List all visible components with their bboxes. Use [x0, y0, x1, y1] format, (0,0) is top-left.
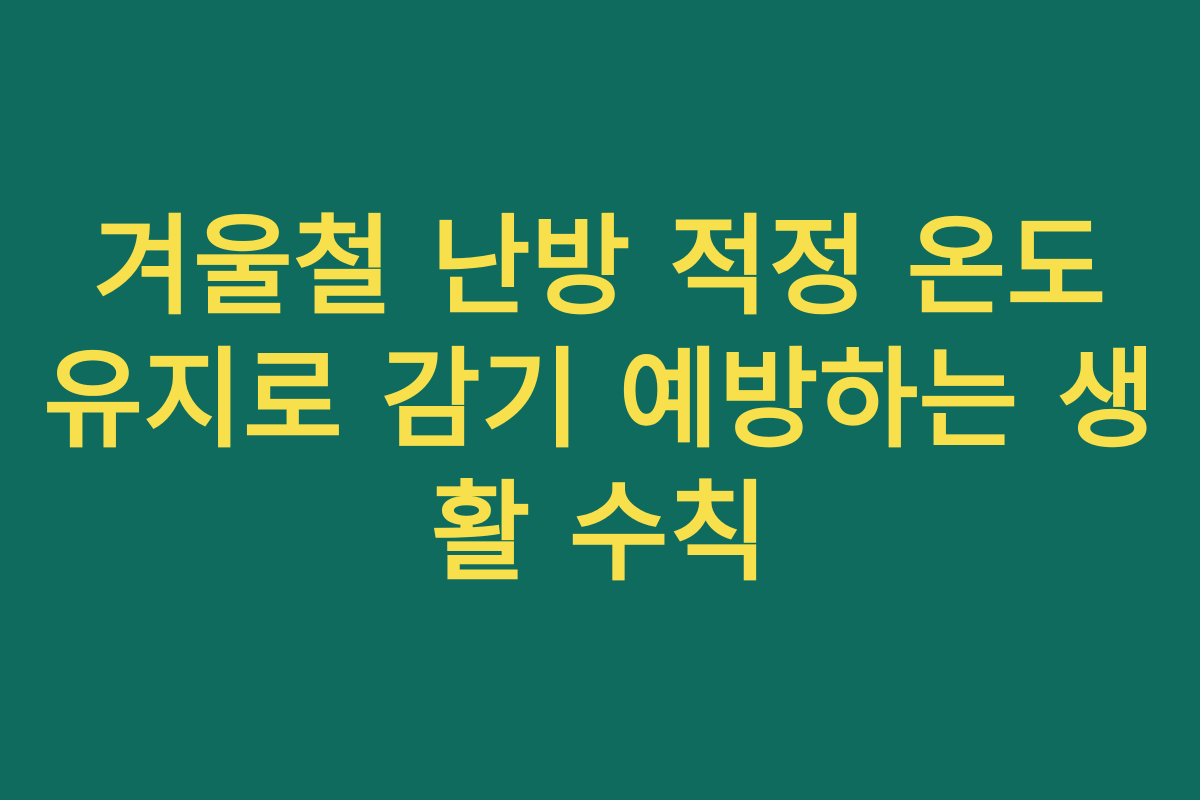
page-title: 겨울철 난방 적정 온도 유지로 감기 예방하는 생 활 수칙 [40, 201, 1160, 600]
text-card: 겨울철 난방 적정 온도 유지로 감기 예방하는 생 활 수칙 [0, 0, 1200, 800]
headline-line-1: 겨울철 난방 적정 온도 [40, 201, 1160, 334]
headline-line-2: 유지로 감기 예방하는 생 [40, 334, 1160, 467]
headline-line-3: 활 수칙 [40, 467, 1160, 600]
